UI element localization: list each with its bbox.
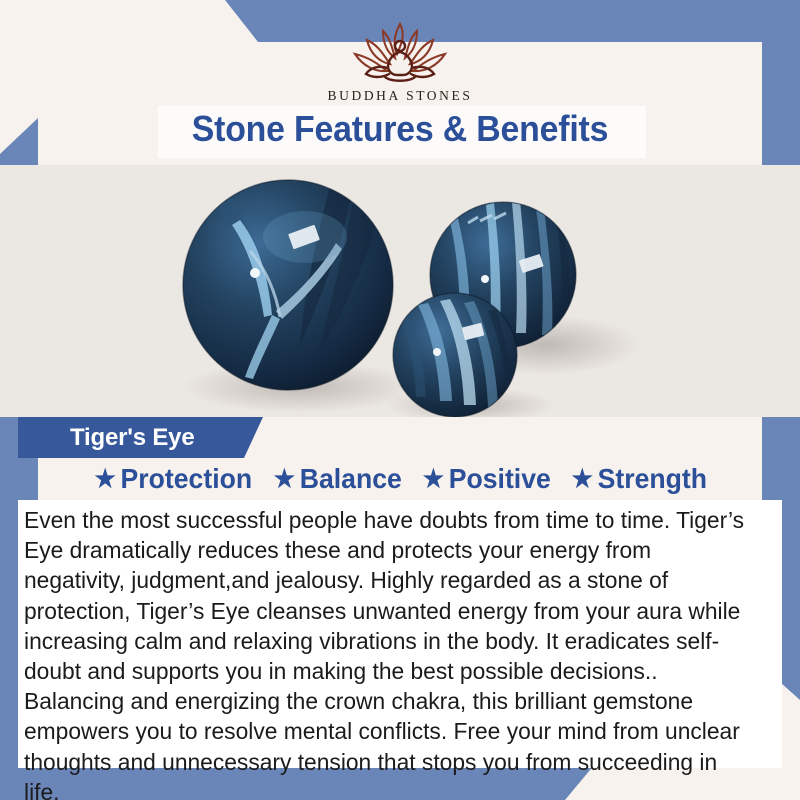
description-text: Even the most successful people have dou… <box>24 505 753 800</box>
stone-photo <box>0 165 800 417</box>
star-icon: ★ <box>274 464 295 494</box>
lotus-meditation-figure-icon <box>325 18 475 86</box>
page-title: Stone Features & Benefits <box>24 108 776 150</box>
benefit-item: ★ Strength <box>571 463 706 495</box>
benefits-row: ★ Protection ★ Balance ★ Positive ★ Stre… <box>0 463 800 495</box>
star-icon: ★ <box>422 464 443 494</box>
benefit-label: Protection <box>121 463 253 495</box>
benefit-item: ★ Balance <box>274 463 415 495</box>
stone-name-banner: Tiger's Eye <box>18 417 263 458</box>
star-icon: ★ <box>94 464 115 494</box>
benefit-label: Balance <box>300 463 402 495</box>
stone-photo-illustration <box>0 165 800 417</box>
brand-logo: BUDDHA STONES <box>0 18 800 104</box>
star-icon: ★ <box>571 464 592 494</box>
benefit-label: Strength <box>597 463 706 495</box>
infographic-page: BUDDHA STONES Stone Features & Benefits <box>0 0 800 800</box>
brand-name: BUDDHA STONES <box>328 88 473 104</box>
benefit-label: Positive <box>448 463 550 495</box>
stone-name-label: Tiger's Eye <box>70 424 194 452</box>
benefit-item: ★ Positive <box>422 463 563 495</box>
benefit-item: ★ Protection <box>94 463 265 495</box>
